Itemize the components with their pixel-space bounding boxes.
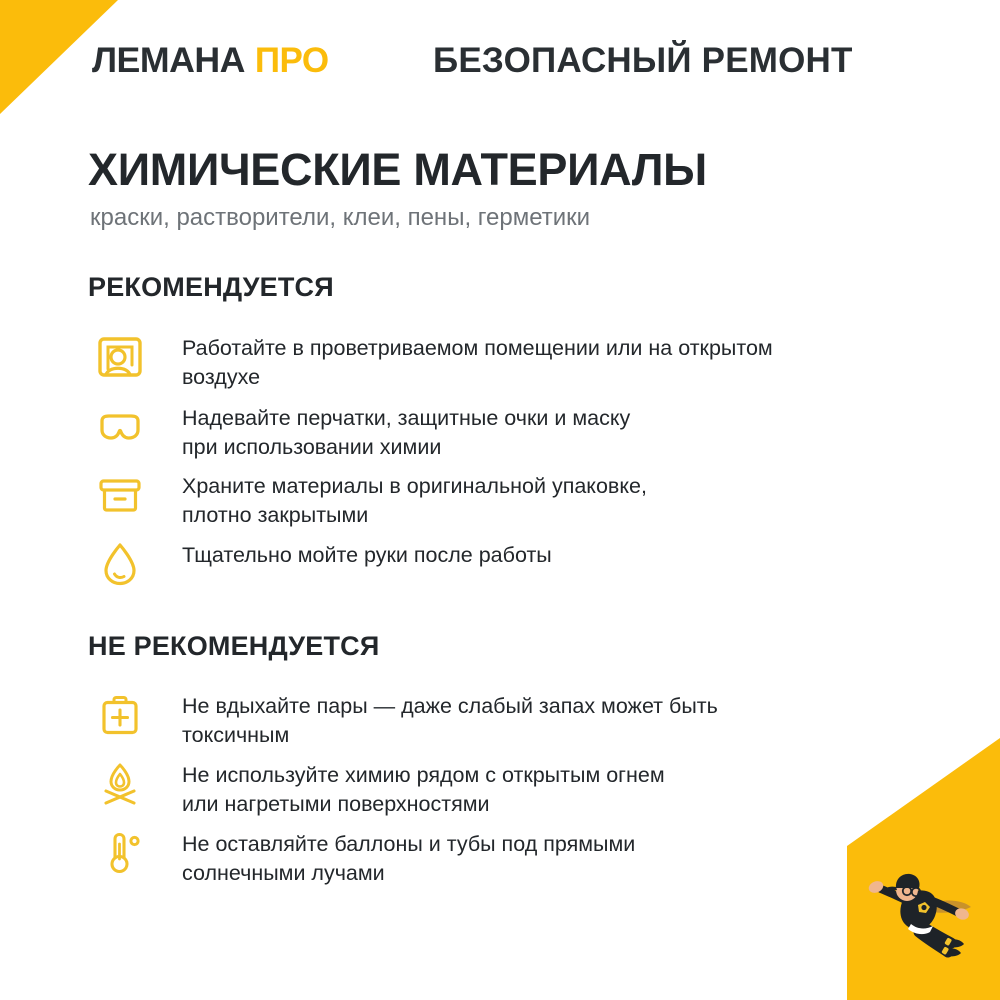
list-item: Храните материалы в оригинальной упаковк… [88, 466, 898, 529]
page-title: ХИМИЧЕСКИЕ МАТЕРИАЛЫ [88, 147, 707, 192]
first-aid-kit-icon [88, 686, 152, 744]
ventilated-room-icon [88, 328, 152, 386]
section-header-recommended: РЕКОМЕНДУЕТСЯ [88, 274, 334, 301]
list-item-text: Не используйте химию рядом с открытым ог… [182, 755, 665, 818]
logo-accent-text: ПРО [255, 43, 329, 78]
flying-hero-mascot [845, 860, 995, 970]
page-subtitle: краски, растворители, клеи, пены, гермет… [90, 204, 590, 233]
logo-main-text: ЛЕМАНА [92, 43, 245, 78]
list-item-text: Не вдыхайте пары — даже слабый запах мож… [182, 686, 718, 749]
open-flame-icon [88, 755, 152, 813]
list-item-text: Не оставляйте баллоны и тубы под прямыми… [182, 824, 635, 887]
safety-goggles-icon [88, 398, 152, 456]
list-item-text: Работайте в проветриваемом помещении или… [182, 328, 773, 391]
list-item: Тщательно мойте руки после работы [88, 535, 898, 593]
list-item: Работайте в проветриваемом помещении или… [88, 328, 898, 391]
list-item-text: Надевайте перчатки, защитные очки и маск… [182, 398, 630, 461]
list-item: Не оставляйте баллоны и тубы под прямыми… [88, 824, 898, 887]
header-tagline: БЕЗОПАСНЫЙ РЕМОНТ [433, 43, 853, 78]
section-header-not-recommended: НЕ РЕКОМЕНДУЕТСЯ [88, 633, 379, 660]
list-item-text: Тщательно мойте руки после работы [182, 535, 552, 570]
list-item: Не вдыхайте пары — даже слабый запах мож… [88, 686, 898, 749]
brand-logo[interactable]: ЛЕМАНА ПРО [92, 43, 329, 78]
list-item: Не используйте химию рядом с открытым ог… [88, 755, 898, 818]
storage-box-icon [88, 466, 152, 524]
header-bar: ЛЕМАНА ПРО БЕЗОПАСНЫЙ РЕМОНТ [0, 0, 1000, 120]
water-drop-icon [88, 535, 152, 593]
thermometer-sun-icon [88, 824, 152, 882]
list-item-text: Храните материалы в оригинальной упаковк… [182, 466, 647, 529]
poster-canvas: ЛЕМАНА ПРО БЕЗОПАСНЫЙ РЕМОНТ ХИМИЧЕСКИЕ … [0, 0, 1000, 1000]
list-item: Надевайте перчатки, защитные очки и маск… [88, 398, 898, 461]
